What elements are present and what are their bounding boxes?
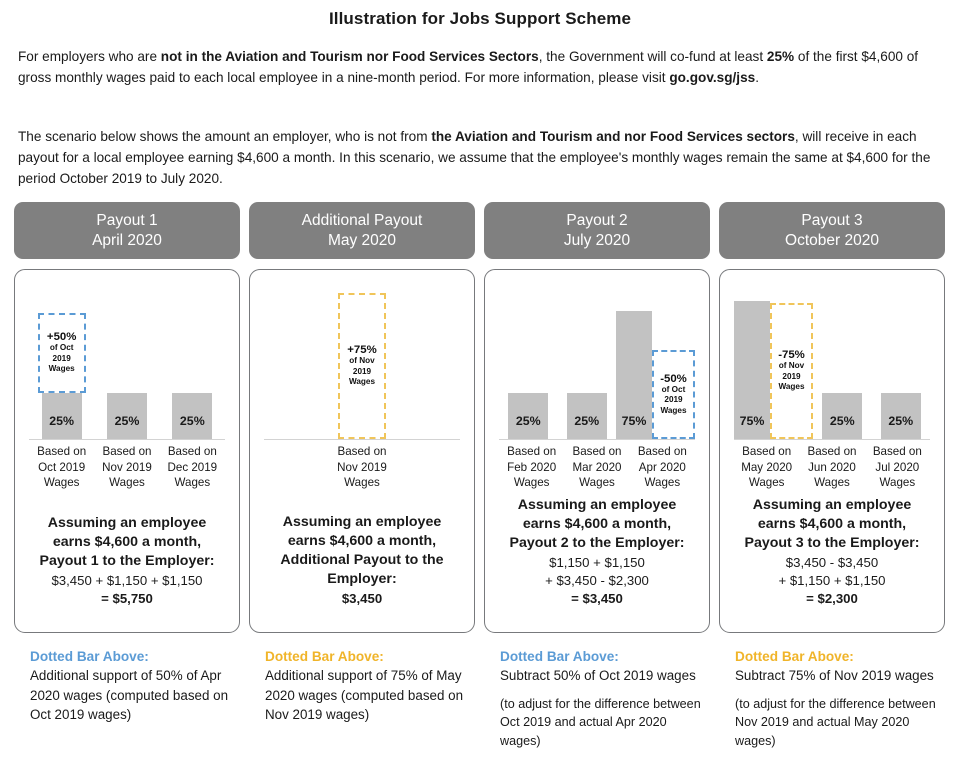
additional-payout-header-line2: May 2020 xyxy=(328,231,396,251)
payout-3-axis: Based on May 2020 Wages Based on Jun 202… xyxy=(734,444,930,491)
payout-1-bar-nov: 25% xyxy=(107,393,147,439)
payout-2-axis-tick-2: Based on Mar 2020 Wages xyxy=(564,444,629,491)
payout-1-summary-lead: Assuming an employee earns $4,600 a mont… xyxy=(29,514,225,571)
note-payout-2: Dotted Bar Above: Subtract 50% of Oct 20… xyxy=(484,647,710,750)
payout-1-dashed-bar-oct: +50% of Oct2019Wages xyxy=(38,313,86,393)
payout-1-slot-2: 25% xyxy=(94,282,159,439)
payout-2-dashed-bar-adjust: -50% of Oct2019Wages xyxy=(652,350,695,439)
payout-3-summary-total: = $2,300 xyxy=(734,590,930,608)
payout-3-axis-tick-3: Based on Jul 2020 Wages xyxy=(865,444,930,491)
payout-1-header-line2: April 2020 xyxy=(92,231,162,251)
additional-payout-dashed-bar-nov: +75% of Nov2019Wages xyxy=(338,293,386,439)
payout-3-summary-lead: Assuming an employee earns $4,600 a mont… xyxy=(734,496,930,553)
additional-payout-axis: Based on Nov 2019 Wages xyxy=(264,444,460,491)
additional-payout-chart: +75% of Nov2019Wages xyxy=(264,282,460,440)
additional-payout-summary-total: $3,450 xyxy=(264,590,460,608)
payout-2-bar-mar: 25% xyxy=(567,393,607,439)
payout-3-header-line2: October 2020 xyxy=(785,231,879,251)
payout-1-bar-oct-pct: 25% xyxy=(49,414,74,439)
note-3-body: Subtract 50% of Oct 2019 wages xyxy=(500,666,710,686)
payout-3-summary-calc: $3,450 - $3,450 + $1,150 + $1,150 xyxy=(734,554,930,590)
payout-1-dashed-sub: of Oct2019Wages xyxy=(49,343,75,375)
note-4-extra: (to adjust for the difference between No… xyxy=(735,695,945,751)
payout-3-bar-jul: 25% xyxy=(881,393,921,439)
payout-1-bar-oct: 25% xyxy=(42,393,82,439)
additional-payout-dashed-pct: +75% xyxy=(347,344,376,356)
payout-2-dashed-sub: of Oct2019Wages xyxy=(660,385,686,417)
payout-3-card: 75% -75% of Nov2019Wages 25% xyxy=(719,269,945,633)
payout-2-summary-lead: Assuming an employee earns $4,600 a mont… xyxy=(499,496,695,553)
intro-p1-bold-percent: 25% xyxy=(767,49,794,64)
payout-3-slot-3: 25% xyxy=(872,282,931,439)
payout-1-axis-tick-1: Based on Oct 2019 Wages xyxy=(29,444,94,491)
payout-2-axis-tick-3: Based on Apr 2020 Wages xyxy=(630,444,695,491)
payout-2-summary-calc: $1,150 + $1,150 + $3,450 - $2,300 xyxy=(499,554,695,590)
payout-3-dashed-bar-adjust: -75% of Nov2019Wages xyxy=(770,303,813,439)
payout-column-2: Additional Payout May 2020 +75% of Nov20… xyxy=(249,202,475,633)
payout-2-axis-tick-1: Based on Feb 2020 Wages xyxy=(499,444,564,491)
additional-payout-summary: Assuming an employee earns $4,600 a mont… xyxy=(258,513,466,624)
note-3-heading: Dotted Bar Above: xyxy=(500,647,710,666)
payout-1-bar-nov-pct: 25% xyxy=(115,414,140,439)
payout-3-bar-may-pct: 75% xyxy=(740,414,765,439)
payout-3-header: Payout 3 October 2020 xyxy=(719,202,945,259)
payout-2-bar-feb: 25% xyxy=(508,393,548,439)
payout-2-slot-2: 25% xyxy=(558,282,617,439)
payout-3-slot-2: 25% xyxy=(813,282,872,439)
payout-1-chart: +50% of Oct2019Wages 25% 25% xyxy=(29,282,225,440)
payout-3-bar-jul-pct: 25% xyxy=(888,414,913,439)
note-4-heading: Dotted Bar Above: xyxy=(735,647,945,666)
note-payout-1: Dotted Bar Above: Additional support of … xyxy=(14,647,240,750)
payout-1-axis-tick-2: Based on Nov 2019 Wages xyxy=(94,444,159,491)
intro-paragraph-1: For employers who are not in the Aviatio… xyxy=(18,46,942,88)
note-1-heading: Dotted Bar Above: xyxy=(30,647,240,666)
payout-column-3: Payout 2 July 2020 25% 25% xyxy=(484,202,710,633)
payout-1-card: +50% of Oct2019Wages 25% 25% xyxy=(14,269,240,633)
payout-1-axis: Based on Oct 2019 Wages Based on Nov 201… xyxy=(29,444,225,491)
payout-2-header-line2: July 2020 xyxy=(564,231,630,251)
note-additional-payout: Dotted Bar Above: Additional support of … xyxy=(249,647,475,750)
payout-1-bar-dec-pct: 25% xyxy=(180,414,205,439)
payout-2-card: 25% 25% 75% xyxy=(484,269,710,633)
payout-2-bar-apr-pct: 75% xyxy=(622,414,647,439)
note-payout-3: Dotted Bar Above: Subtract 75% of Nov 20… xyxy=(719,647,945,750)
payout-1-header-line1: Payout 1 xyxy=(96,211,157,231)
payout-column-1: Payout 1 April 2020 +50% of Oct2019Wages xyxy=(14,202,240,633)
intro-p1-part-a: For employers who are xyxy=(18,49,161,64)
payout-3-dashed-pct: -75% xyxy=(778,349,805,361)
payout-columns: Payout 1 April 2020 +50% of Oct2019Wages xyxy=(14,202,946,633)
additional-payout-card: +75% of Nov2019Wages Based on Nov 2019 W… xyxy=(249,269,475,633)
payout-2-summary-total: = $3,450 xyxy=(499,590,695,608)
payout-3-slot-1: 75% -75% of Nov2019Wages xyxy=(734,282,813,439)
payout-1-summary: Assuming an employee earns $4,600 a mont… xyxy=(23,514,231,624)
additional-payout-header: Additional Payout May 2020 xyxy=(249,202,475,259)
additional-payout-summary-lead: Assuming an employee earns $4,600 a mont… xyxy=(264,513,460,589)
note-2-body: Additional support of 75% of May 2020 wa… xyxy=(265,666,475,725)
payout-3-summary: Assuming an employee earns $4,600 a mont… xyxy=(728,496,936,624)
payout-2-header-line1: Payout 2 xyxy=(566,211,627,231)
note-3-extra: (to adjust for the difference between Oc… xyxy=(500,695,710,751)
payout-2-summary: Assuming an employee earns $4,600 a mont… xyxy=(493,496,701,624)
payout-1-header: Payout 1 April 2020 xyxy=(14,202,240,259)
payout-2-slot-1: 25% xyxy=(499,282,558,439)
note-1-body: Additional support of 50% of Apr 2020 wa… xyxy=(30,666,240,725)
payout-1-slot-3: 25% xyxy=(160,282,225,439)
intro-p2-bold-sectors: the Aviation and Tourism and nor Food Se… xyxy=(431,129,795,144)
additional-payout-header-line1: Additional Payout xyxy=(302,211,423,231)
note-2-heading: Dotted Bar Above: xyxy=(265,647,475,666)
payout-3-chart: 75% -75% of Nov2019Wages 25% xyxy=(734,282,930,440)
payout-3-bar-jun-pct: 25% xyxy=(830,414,855,439)
payout-3-axis-tick-2: Based on Jun 2020 Wages xyxy=(799,444,864,491)
intro-paragraph-2: The scenario below shows the amount an e… xyxy=(18,126,942,189)
payout-2-header: Payout 2 July 2020 xyxy=(484,202,710,259)
payout-3-axis-tick-1: Based on May 2020 Wages xyxy=(734,444,799,491)
dotted-bar-notes: Dotted Bar Above: Additional support of … xyxy=(14,647,946,750)
payout-2-bar-apr: 75% xyxy=(616,311,652,439)
intro-p1-bold-sectors: not in the Aviation and Tourism nor Food… xyxy=(161,49,539,64)
payout-2-slot-3: 75% -50% of Oct2019Wages xyxy=(616,282,695,439)
additional-payout-axis-tick-1: Based on Nov 2019 Wages xyxy=(264,444,460,491)
payout-2-bar-feb-pct: 25% xyxy=(516,414,541,439)
payout-2-bar-mar-pct: 25% xyxy=(574,414,599,439)
intro-p1-part-g: . xyxy=(755,70,759,85)
payout-1-bar-dec: 25% xyxy=(172,393,212,439)
intro-p2-part-a: The scenario below shows the amount an e… xyxy=(18,129,431,144)
payout-2-chart: 25% 25% 75% xyxy=(499,282,695,440)
additional-payout-slot-1: +75% of Nov2019Wages xyxy=(264,282,460,439)
page-title: Illustration for Jobs Support Scheme xyxy=(0,0,960,29)
intro-p1-part-c: , the Government will co-fund at least xyxy=(539,49,767,64)
intro-p1-link-text: go.gov.sg/jss xyxy=(669,70,755,85)
payout-1-dashed-pct: +50% xyxy=(47,331,76,343)
payout-1-slot-1: +50% of Oct2019Wages 25% xyxy=(29,282,94,439)
payout-1-axis-tick-3: Based on Dec 2019 Wages xyxy=(160,444,225,491)
payout-column-4: Payout 3 October 2020 75% -75% xyxy=(719,202,945,633)
payout-2-dashed-pct: -50% xyxy=(660,373,687,385)
payout-3-bar-jun: 25% xyxy=(822,393,862,439)
payout-2-baseline xyxy=(499,439,695,440)
payout-3-bar-may: 75% xyxy=(734,301,770,439)
payout-3-header-line1: Payout 3 xyxy=(801,211,862,231)
payout-3-baseline xyxy=(734,439,930,440)
additional-payout-dashed-sub: of Nov2019Wages xyxy=(349,356,375,388)
payout-2-axis: Based on Feb 2020 Wages Based on Mar 202… xyxy=(499,444,695,491)
illustration-page: Illustration for Jobs Support Scheme For… xyxy=(0,0,960,772)
note-4-body: Subtract 75% of Nov 2019 wages xyxy=(735,666,945,686)
payout-1-summary-calc: $3,450 + $1,150 + $1,150 xyxy=(29,572,225,590)
payout-1-baseline xyxy=(29,439,225,440)
payout-1-summary-total: = $5,750 xyxy=(29,590,225,608)
additional-payout-baseline xyxy=(264,439,460,440)
payout-3-dashed-sub: of Nov2019Wages xyxy=(778,361,804,393)
